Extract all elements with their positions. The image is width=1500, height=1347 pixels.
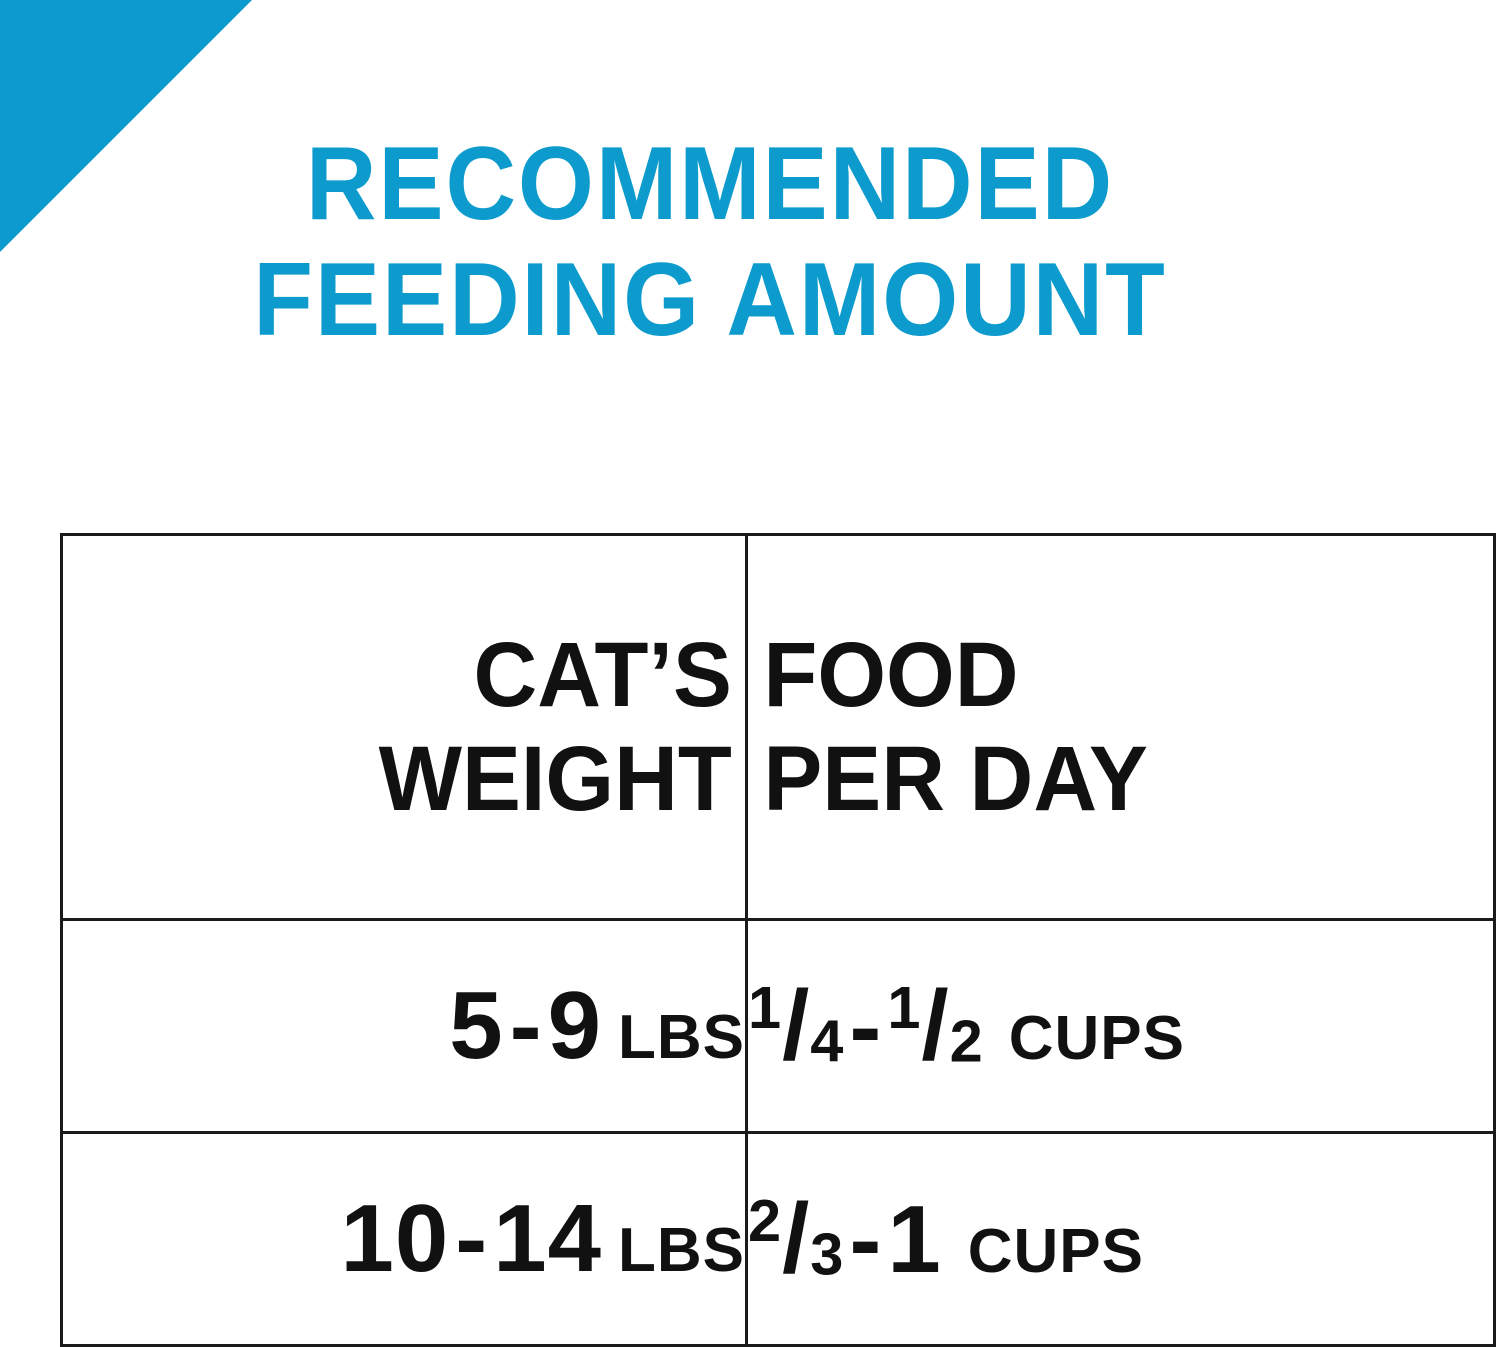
weight-min-value: 10 bbox=[340, 1185, 449, 1292]
food-max-fraction: 1/2 bbox=[887, 977, 982, 1075]
weight-range-cell: 5-9LBS bbox=[62, 920, 747, 1133]
column-header-cats-weight-line-1: CAT’S bbox=[77, 623, 732, 727]
food-min-numerator: 2 bbox=[748, 1187, 781, 1254]
table-row: 10-14LBS 2/3-1CUPS bbox=[62, 1133, 1495, 1346]
food-amount-cell: 1/4-1/2CUPS bbox=[747, 920, 1495, 1133]
food-range-dash: - bbox=[843, 973, 887, 1080]
column-header-food-per-day-line-1: FOOD bbox=[763, 623, 1478, 727]
food-min-slash: / bbox=[781, 1183, 810, 1293]
weight-min-value: 5 bbox=[449, 972, 503, 1079]
table-header-row: CAT’S WEIGHT FOOD PER DAY bbox=[62, 535, 1495, 920]
page-title-line-2: FEEDING AMOUNT bbox=[43, 242, 1378, 358]
food-unit-label: CUPS bbox=[983, 1004, 1185, 1073]
weight-unit-label: LBS bbox=[602, 1216, 745, 1285]
weight-range-cell: 10-14LBS bbox=[62, 1133, 747, 1346]
food-max-slash: / bbox=[920, 970, 949, 1080]
feeding-guide-table: CAT’S WEIGHT FOOD PER DAY 5-9LBS 1/4-1/2… bbox=[60, 533, 1496, 1347]
food-max-denominator: 2 bbox=[950, 1007, 983, 1074]
food-min-fraction: 1/4 bbox=[748, 977, 843, 1075]
weight-range-dash: - bbox=[449, 1185, 493, 1292]
page-title-line-1: RECOMMENDED bbox=[43, 126, 1378, 242]
column-header-food-per-day-line-2: PER DAY bbox=[763, 727, 1478, 831]
weight-unit-label: LBS bbox=[602, 1003, 745, 1072]
column-header-cats-weight: CAT’S WEIGHT bbox=[75, 535, 733, 920]
weight-range-dash: - bbox=[504, 972, 548, 1079]
column-header-food-per-day: FOOD PER DAY bbox=[761, 535, 1479, 920]
food-max-value: 1 bbox=[887, 1186, 941, 1293]
food-min-denominator: 3 bbox=[810, 1220, 843, 1287]
food-min-denominator: 4 bbox=[810, 1007, 843, 1074]
table-row: 5-9LBS 1/4-1/2CUPS bbox=[62, 920, 1495, 1133]
food-unit-label: CUPS bbox=[942, 1217, 1144, 1286]
food-range-dash: - bbox=[843, 1186, 887, 1293]
weight-max-value: 14 bbox=[493, 1185, 602, 1292]
food-amount-cell: 2/3-1CUPS bbox=[747, 1133, 1495, 1346]
column-header-cats-weight-line-2: WEIGHT bbox=[77, 727, 732, 831]
food-min-slash: / bbox=[781, 970, 810, 1080]
weight-max-value: 9 bbox=[548, 972, 602, 1079]
food-min-numerator: 1 bbox=[748, 974, 781, 1041]
food-min-fraction: 2/3 bbox=[748, 1190, 843, 1288]
food-max-numerator: 1 bbox=[887, 974, 920, 1041]
page-title: RECOMMENDED FEEDING AMOUNT bbox=[43, 126, 1378, 358]
